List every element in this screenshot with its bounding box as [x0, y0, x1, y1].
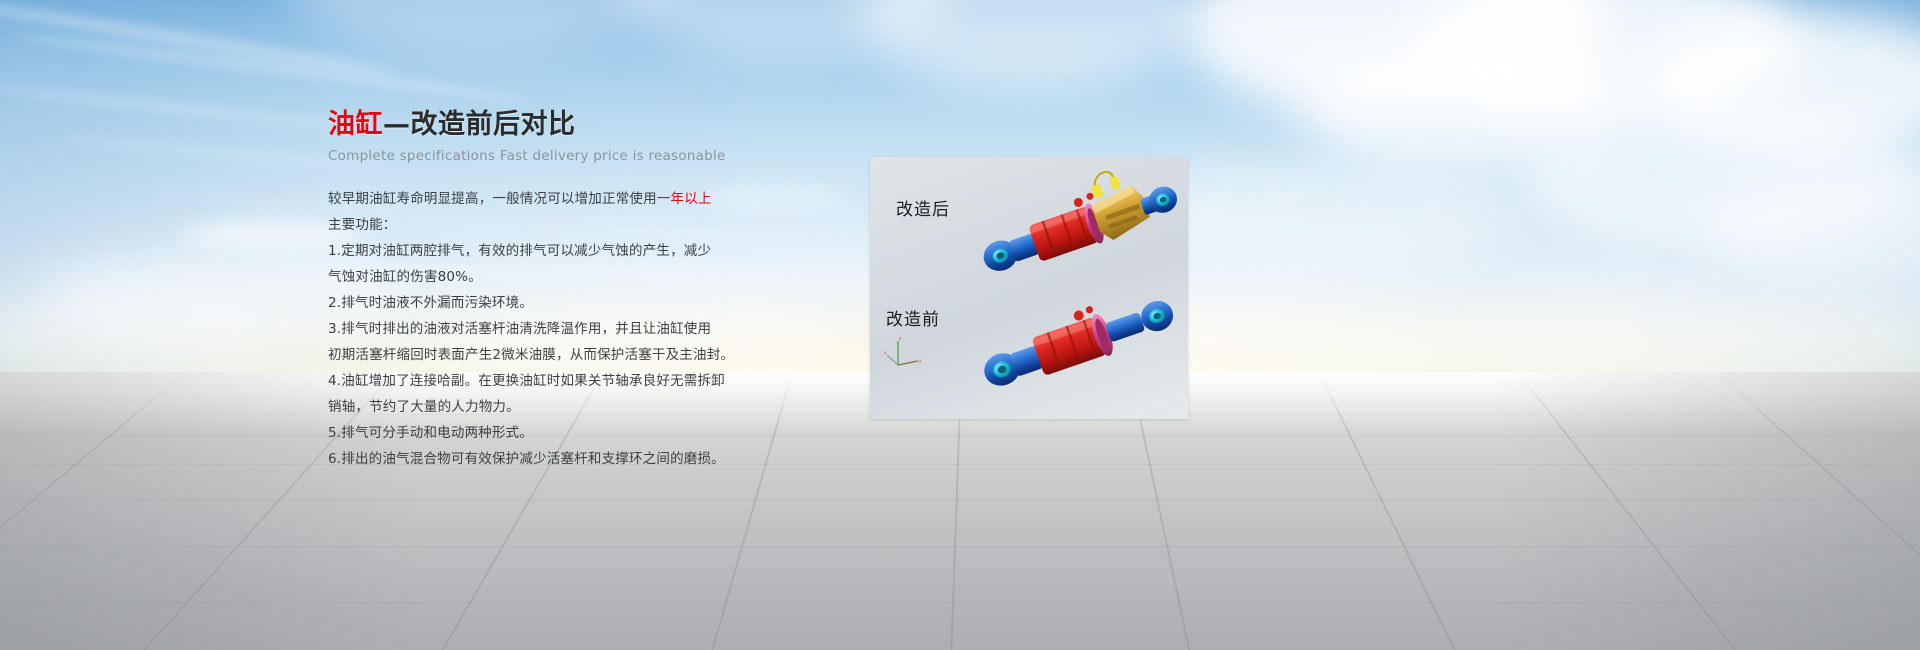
- text-line: 初期活塞杆缩回时表面产生2微米油膜，从而保护活塞干及主油封。: [328, 342, 848, 368]
- text-line-pre: 销轴，节约了大量的人力物力。: [328, 399, 520, 415]
- label-after-modification: 改造后: [896, 195, 950, 220]
- text-line: 较早期油缸寿命明显提高，一般情况可以增加正常使用一年以上: [328, 186, 848, 212]
- text-line-pre: 4.油缸增加了连接哈副。在更换油缸时如果关节轴承良好无需拆卸: [328, 373, 725, 389]
- page-title-accent: 油缸: [328, 109, 383, 140]
- feature-text-block: 较早期油缸寿命明显提高，一般情况可以增加正常使用一年以上 主要功能： 1.定期对…: [328, 186, 848, 472]
- svg-text:y: y: [919, 358, 922, 363]
- cylinder-render-after: [974, 169, 1182, 289]
- axis-triad-icon: z x y: [884, 335, 924, 369]
- text-line: 5.排气可分手动和电动两种形式。: [328, 420, 848, 446]
- text-line-pre: 较早期油缸寿命明显提高，一般情况可以增加正常使用: [328, 191, 657, 207]
- cloud: [1480, 290, 1920, 375]
- banner-stage: 油缸—改造前后对比 Complete specifications Fast d…: [0, 0, 1920, 650]
- label-before-modification: 改造前: [886, 305, 940, 330]
- text-line-pre: 1.定期对油缸两腔排气，有效的排气可以减少气蚀的产生，减少: [328, 243, 711, 259]
- text-line: 6.排出的油气混合物可有效保护减少活塞杆和支撑环之间的磨损。: [328, 446, 848, 472]
- text-line-pre: 3.排气时排出的油液对活塞杆油清洗降温作用，并且让油缸使用: [328, 321, 711, 337]
- svg-text:x: x: [884, 350, 887, 355]
- product-comparison-image: 改造后 改造前 z x y: [870, 157, 1188, 419]
- text-line: 气蚀对油缸的伤害80%。: [328, 264, 848, 290]
- cylinder-render-before: [976, 279, 1182, 409]
- text-line-pre: 6.排出的油气混合物可有效保护减少活塞杆和支撑环之间的磨损。: [328, 451, 725, 467]
- text-line: 1.定期对油缸两腔排气，有效的排气可以减少气蚀的产生，减少: [328, 238, 848, 264]
- page-title: 油缸—改造前后对比: [328, 108, 848, 142]
- text-line-pre: 气蚀对油缸的伤害80%。: [328, 269, 482, 285]
- text-line: 3.排气时排出的油液对活塞杆油清洗降温作用，并且让油缸使用: [328, 316, 848, 342]
- page-title-rest: —改造前后对比: [383, 109, 576, 140]
- svg-text:z: z: [899, 336, 901, 341]
- page-subtitle: Complete specifications Fast delivery pr…: [328, 148, 848, 164]
- banner-copy: 油缸—改造前后对比 Complete specifications Fast d…: [328, 108, 848, 472]
- text-line-pre: 初期活塞杆缩回时表面产生2微米油膜，从而保护活塞干及主油封。: [328, 347, 734, 363]
- text-line: 4.油缸增加了连接哈副。在更换油缸时如果关节轴承良好无需拆卸: [328, 368, 848, 394]
- text-line: 主要功能：: [328, 212, 848, 238]
- text-line-pre: 2.排气时油液不外漏而污染环境。: [328, 295, 533, 311]
- text-line-pre: 主要功能：: [328, 217, 397, 233]
- text-line: 销轴，节约了大量的人力物力。: [328, 394, 848, 420]
- text-line-pre: 5.排气可分手动和电动两种形式。: [328, 425, 533, 441]
- text-line-emphasis: 一年以上: [657, 191, 712, 207]
- text-line: 2.排气时油液不外漏而污染环境。: [328, 290, 848, 316]
